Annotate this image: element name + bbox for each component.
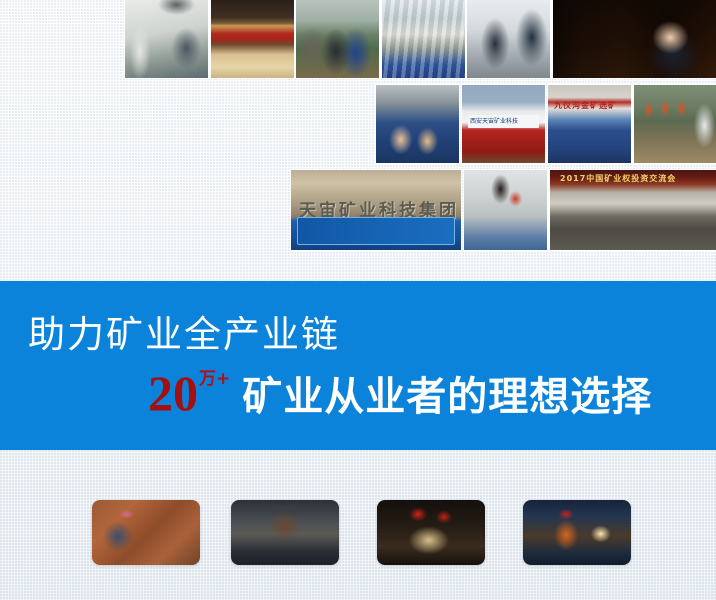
- promotional-banner-page: 西安天宙矿业科技 九仪沟金矿选矿 天宙矿业科技集团 2017中国矿业权投资交流会…: [0, 0, 716, 600]
- bottom-card-geologist-taking-field-notes: [92, 500, 200, 565]
- collage-photo-outdoor-group-photo-with-banner: 西安天宙矿业科技: [462, 85, 545, 163]
- bottom-card-smelter-worker-at-furnace: [523, 500, 631, 565]
- collage-photo-company-signage-wall: 天宙矿业科技集团: [291, 170, 461, 250]
- bottom-card-smiling-miner-with-helmet: [231, 500, 339, 565]
- banner-headline: 助力矿业全产业链: [28, 316, 340, 353]
- collage-photo-group-of-workers-in-blue-uniform: [376, 85, 459, 163]
- collage-photo-site-crew-with-orange-helmets: [634, 85, 716, 163]
- collage-caption-outdoor-banner: 西安天宙矿业科技: [470, 116, 539, 125]
- bottom-card-two-workers-with-red-helmets: [377, 500, 485, 565]
- banner-number-superscript: 万+: [199, 364, 230, 389]
- banner-number: 20: [148, 368, 198, 418]
- blue-banner: [0, 281, 716, 450]
- collage-photo-two-technicians-weighing-sample: [467, 0, 550, 78]
- collage-photo-industry-conference-group-photo: 2017中国矿业权投资交流会: [550, 170, 716, 250]
- collage-photo-lab-woman-pouring-sample: [464, 170, 547, 250]
- collage-caption-conference: 2017中国矿业权投资交流会: [560, 173, 710, 184]
- collage-caption-mine-office: 九仪沟金矿选矿: [554, 100, 627, 111]
- collage-photo-conference-hall-award-ceremony: [211, 0, 294, 78]
- banner-subheadline-row: 20 万+ 矿业从业者的理想选择: [148, 368, 652, 418]
- collage-photo-executive-portrait-with-china-flag: [553, 0, 716, 78]
- collage-photo-field-workers-on-mountain: [296, 0, 379, 78]
- collage-photo-flotation-machine-production-line: [382, 0, 465, 78]
- banner-subheadline: 矿业从业者的理想选择: [242, 377, 652, 417]
- collage-photo-lab-technician-at-instrument: [125, 0, 208, 78]
- photo-collage: 西安天宙矿业科技 九仪沟金矿选矿 天宙矿业科技集团 2017中国矿业权投资交流会: [0, 0, 716, 262]
- collage-photo-team-photo-in-front-of-mine-office: 九仪沟金矿选矿: [548, 85, 631, 163]
